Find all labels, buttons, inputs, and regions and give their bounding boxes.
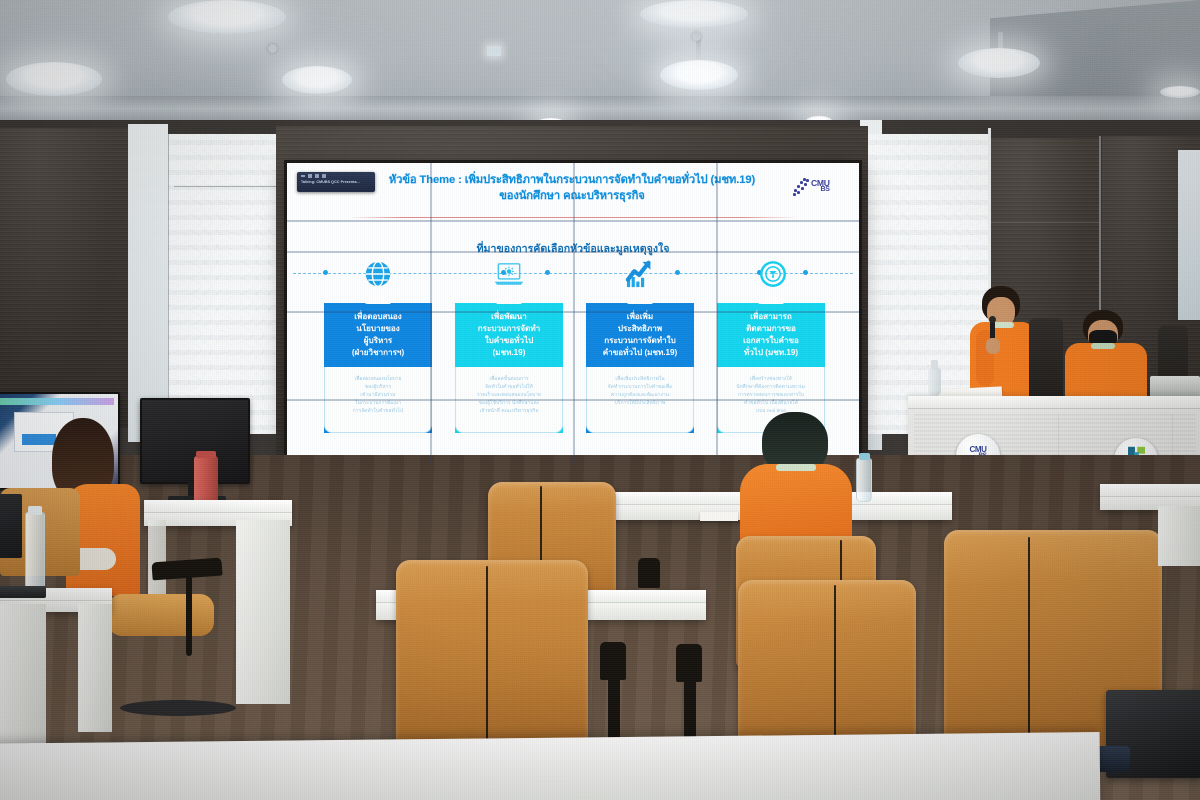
podium-countertop	[908, 396, 1200, 409]
slide-title: หัวข้อ Theme : เพิ่มประสิทธิภาพในกระบวนก…	[327, 173, 817, 205]
reason-card-1-body: เพื่อตอบสนองนโยบาย ของผู้บริหาร เข้ามามี…	[324, 367, 432, 433]
acoustic-panel-left	[0, 128, 128, 428]
ceiling-light-4	[282, 66, 352, 94]
wall-seam	[991, 222, 1099, 223]
ceiling-light-2	[640, 0, 748, 28]
reason-card-4-title: เพื่อสามารถ ติดตามการขอ เอกสารใบคำขอ ทั่…	[717, 303, 825, 367]
tablet-left[interactable]	[0, 586, 46, 598]
side-table-leg	[78, 604, 112, 732]
target-badge-icon-slot	[753, 255, 793, 293]
reason-card-2[interactable]: เพื่อพัฒนา กระบวนการจัดทำ ใบคำขอทั่วไป (…	[455, 303, 563, 433]
slide-title-line1: หัวข้อ Theme : เพิ่มประสิทธิภาพในกระบวนก…	[327, 173, 817, 189]
ceiling-light-9	[1160, 86, 1200, 98]
desk-surface	[1100, 484, 1200, 497]
screen-share-bar[interactable]: Talking: CMUBS QCC Presenta...	[297, 172, 375, 192]
laptop-left-edge[interactable]	[0, 494, 22, 558]
reason-card-1[interactable]: เพื่อตอบสนอง นโยบายของ ผู้บริหาร (ฝ่ายวิ…	[324, 303, 432, 433]
target-badge-icon	[758, 259, 788, 289]
reason-card-3-title: เพื่อเพิ่ม ประสิทธิภาพ กระบวนการจัดทำใบ …	[586, 303, 694, 367]
chair-armrest	[600, 642, 626, 680]
reason-card-1-title: เพื่อตอบสนอง นโยบายของ ผู้บริหาร (ฝ่ายวิ…	[324, 303, 432, 367]
title-divider-rule	[349, 217, 797, 218]
ceiling-light-1	[168, 0, 286, 34]
ceiling-light-3	[6, 62, 102, 96]
grid-icon[interactable]	[315, 174, 319, 178]
reason-card-2-title: เพื่อพัฒนา กระบวนการจัดทำ ใบคำขอทั่วไป (…	[455, 303, 563, 367]
screen-toolbar	[0, 398, 114, 405]
laptop-sparkle-icon	[493, 261, 525, 288]
water-bottle-left	[25, 512, 45, 590]
wall-seam	[174, 186, 276, 187]
task-chair-arm-post	[186, 572, 192, 656]
timeline-dot	[323, 270, 328, 275]
globe-icon-slot	[358, 255, 398, 293]
hand-sanitizer-bottle	[928, 368, 941, 396]
ceiling-light-6	[958, 48, 1040, 78]
wall-seam	[168, 134, 169, 434]
sprinkler-head	[268, 44, 277, 53]
chair-back	[396, 560, 588, 750]
timeline-dot	[803, 270, 808, 275]
auditorium-chair-r2-b[interactable]	[738, 580, 916, 760]
reason-card-3-body: เพื่อเพิ่มประสิทธิภาพใน จัดทำกระบวนการใบ…	[586, 367, 694, 433]
ceiling-light-5	[660, 60, 738, 90]
minimize-icon[interactable]	[301, 175, 305, 177]
ceiling-vent	[487, 46, 501, 56]
task-chair-seat	[108, 594, 214, 636]
presenter-seated-collar	[1091, 343, 1115, 349]
red-tumbler-cap	[196, 451, 216, 458]
sanitizer-pump	[931, 360, 938, 369]
videowall-bezel	[287, 220, 859, 222]
audience-center	[736, 412, 866, 552]
podium-chair-back	[1029, 318, 1063, 406]
wavy-wall-panel-left	[168, 134, 276, 434]
timeline-dot	[675, 270, 680, 275]
timeline-dot	[545, 270, 550, 275]
wall-column-left	[128, 124, 168, 442]
notebook-on-desk	[700, 512, 738, 521]
foreground-desk	[0, 732, 1100, 800]
chair-back	[738, 580, 916, 760]
reason-card-3[interactable]: เพื่อเพิ่ม ประสิทธิภาพ กระบวนการจัดทำใบ …	[586, 303, 694, 433]
chair-armrest	[676, 644, 702, 682]
laptop-sparkle-icon-slot	[489, 255, 529, 293]
growth-chart-icon	[625, 259, 657, 289]
task-chair-base	[120, 700, 236, 716]
growth-chart-icon-slot	[621, 255, 661, 293]
side-table-leg	[0, 604, 46, 754]
globe-icon	[363, 259, 393, 289]
presenter-speaking-hand	[986, 338, 1000, 354]
desk-leg	[236, 520, 290, 704]
presenter-seated	[1055, 310, 1165, 406]
reason-card-2-body: เพื่อลดขั้นตอนการ จัดทำใบคำขอทั่วไปให้ ร…	[455, 367, 563, 433]
sprinkler-head	[692, 32, 701, 41]
window-strip-right	[1178, 150, 1200, 320]
chair-armrest	[638, 558, 660, 588]
share-bar-label: Talking: CMUBS QCC Presenta...	[297, 178, 375, 186]
audience-center-collar	[776, 464, 816, 471]
auditorium-chair-r2-a[interactable]	[396, 560, 588, 750]
slide-title-line2: ของนักศึกษา คณะบริหารธุรกิจ	[327, 189, 817, 205]
water-bottle-cap	[28, 506, 42, 515]
seminar-room-scene: CMU BS หัวข้อ Theme : เพิ่มประสิทธิภาพใน…	[0, 0, 1200, 800]
panel-icon[interactable]	[322, 174, 326, 178]
videowall-bezel	[573, 163, 575, 463]
desk-leg	[1158, 506, 1200, 566]
restore-icon[interactable]	[308, 174, 312, 178]
